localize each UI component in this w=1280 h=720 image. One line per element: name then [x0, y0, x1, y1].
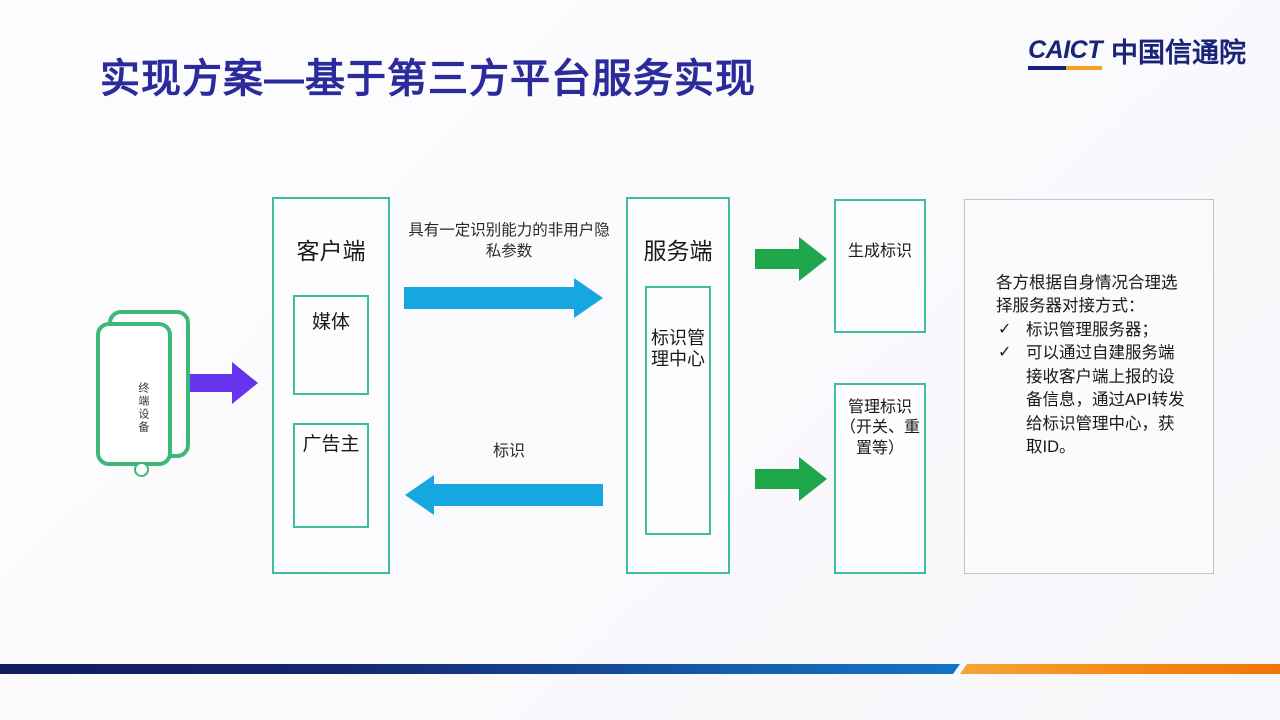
- arrow-label-server-to-client: 标识: [404, 437, 614, 461]
- client-child-advertiser-label: 广告主: [293, 434, 369, 456]
- info-panel-list-item: ✓ 可以通过自建服务端接收客户端上报的设备信息，通过API转发给标识管理中心，获…: [996, 342, 1188, 459]
- arrow-label-client-to-server: 具有一定识别能力的非用户隐私参数: [404, 221, 614, 263]
- slide-canvas: 实现方案—基于第三方平台服务实现 CAICT 中国信通院 终端设备 客户端 媒体…: [0, 0, 1280, 720]
- check-icon: ✓: [998, 342, 1011, 365]
- logo-underline-blue: [1028, 66, 1066, 70]
- arrow-server-to-client: [404, 474, 604, 516]
- footer-accent-bar: [0, 664, 1280, 674]
- phone-home-button-icon: [134, 462, 149, 477]
- phone-front-layer: 终端设备: [96, 322, 172, 466]
- client-child-media-label: 媒体: [293, 312, 369, 334]
- check-icon: ✓: [998, 319, 1011, 342]
- generate-identifier-box: [834, 199, 926, 333]
- page-title: 实现方案—基于第三方平台服务实现: [100, 46, 756, 104]
- generate-identifier-label: 生成标识: [834, 242, 926, 263]
- footer-bar-orange-segment: [960, 664, 1280, 674]
- footer-bar-blue-segment: [0, 664, 960, 674]
- logo-underline: [1028, 66, 1102, 70]
- identifier-management-center-label: 标识管理中心: [645, 328, 711, 370]
- arrow-server-to-manage: [755, 455, 829, 503]
- info-panel-content: 各方根据自身情况合理选择服务器对接方式： ✓ 标识管理服务器； ✓ 可以通过自建…: [996, 272, 1188, 459]
- arrow-client-to-server: [404, 277, 604, 319]
- caict-logo: CAICT 中国信通院: [1028, 38, 1246, 70]
- logo-underline-orange: [1066, 66, 1102, 70]
- client-child-media-box: [293, 295, 369, 395]
- info-panel-list-item: ✓ 标识管理服务器；: [996, 319, 1188, 342]
- info-panel-list: ✓ 标识管理服务器； ✓ 可以通过自建服务端接收客户端上报的设备信息，通过API…: [996, 319, 1188, 460]
- logo-chinese-name: 中国信通院: [1111, 40, 1246, 70]
- server-title: 服务端: [626, 232, 730, 266]
- logo-acronym-block: CAICT: [1028, 38, 1102, 70]
- logo-acronym: CAICT: [1028, 38, 1102, 63]
- manage-identifier-label: 管理标识（开关、重置等）: [834, 398, 926, 459]
- client-title: 客户端: [272, 232, 390, 266]
- info-panel-list-item-text: 标识管理服务器；: [1026, 321, 1158, 339]
- terminal-device-label: 终端设备: [100, 362, 184, 454]
- terminal-device-graphic: 终端设备: [92, 310, 192, 470]
- info-panel-lead: 各方根据自身情况合理选择服务器对接方式：: [996, 272, 1188, 319]
- arrow-device-to-client: [190, 358, 260, 408]
- identifier-management-center-box: [645, 286, 711, 535]
- info-panel-list-item-text: 可以通过自建服务端接收客户端上报的设备信息，通过API转发给标识管理中心，获取I…: [1026, 344, 1185, 456]
- arrow-server-to-generate: [755, 235, 829, 283]
